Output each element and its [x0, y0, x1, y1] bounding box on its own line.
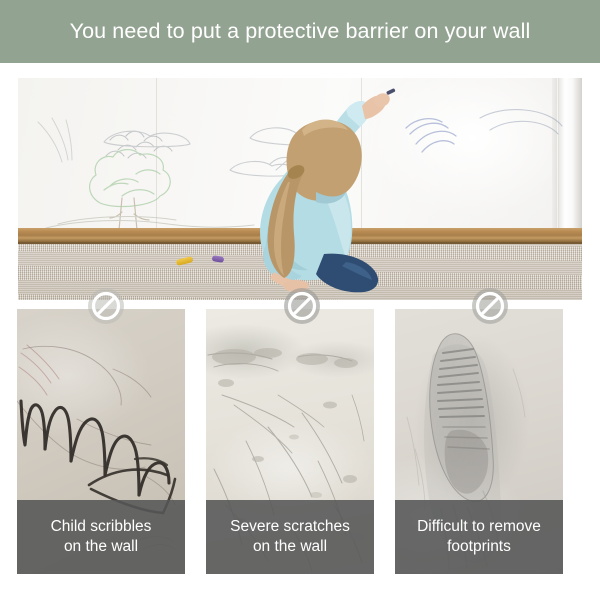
prohibition-icon: [283, 287, 321, 325]
caption-line-1: Severe scratches: [230, 518, 350, 535]
child-figure: [196, 86, 416, 300]
issue-panel: Difficult to remove footprints: [395, 309, 563, 574]
caption-line-2: footprints: [447, 538, 511, 555]
hero-photo: [18, 78, 582, 300]
page-title: You need to put a protective barrier on …: [70, 19, 531, 44]
caption-line-1: Child scribbles: [51, 518, 152, 535]
caption-line-2: on the wall: [64, 538, 138, 555]
promo-infographic: You need to put a protective barrier on …: [0, 0, 600, 600]
panel-caption-bar: Severe scratches on the wall: [206, 500, 374, 574]
prohibition-icon: [471, 287, 509, 325]
panel-caption-text: Difficult to remove footprints: [411, 517, 547, 557]
prohibition-icon: [87, 287, 125, 325]
panel-caption-text: Child scribbles on the wall: [45, 517, 158, 557]
caption-line-1: Difficult to remove: [417, 518, 541, 535]
panel-caption-text: Severe scratches on the wall: [224, 517, 356, 557]
panel-caption-bar: Child scribbles on the wall: [17, 500, 185, 574]
caption-line-2: on the wall: [253, 538, 327, 555]
issue-panel: Child scribbles on the wall: [17, 309, 185, 574]
panel-caption-bar: Difficult to remove footprints: [395, 500, 563, 574]
issue-panel: Severe scratches on the wall: [206, 309, 374, 574]
header-banner: You need to put a protective barrier on …: [0, 0, 600, 63]
